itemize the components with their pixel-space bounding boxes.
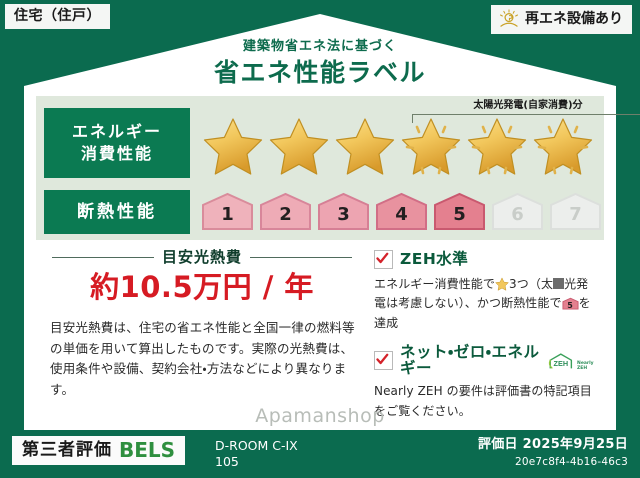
insulation-performance-row: 断熱性能 1 2 bbox=[36, 184, 604, 240]
property-name: D-ROOM C-IX bbox=[215, 438, 298, 454]
check-icon bbox=[374, 351, 393, 370]
label-footer: 第三者評価 BELS D-ROOM C-IX 105 評価日 2025年9月25… bbox=[0, 430, 640, 478]
insulation-performance-label: 断熱性能 bbox=[44, 190, 190, 234]
insulation-level-3: 3 bbox=[316, 192, 371, 230]
renewable-equipment-label: 再エネ設備あり bbox=[525, 12, 623, 26]
criteria-net-zero-energy-title: ネット・ゼロ・エネルギー bbox=[400, 345, 540, 376]
insulation-level-value: 7 bbox=[569, 206, 582, 230]
solar-bracket-line bbox=[412, 114, 640, 123]
zeh-body-part1: エネルギー消費性能で bbox=[374, 277, 495, 291]
insulation-level-value: 2 bbox=[279, 206, 292, 230]
evaluation-info: 評価日 2025年9月25日 20e7c8f4-4b16-46c3 bbox=[478, 437, 628, 469]
insulation-level-value: 1 bbox=[221, 206, 234, 230]
solar-generation-caption: 太陽光発電(自家消費)分 bbox=[412, 101, 640, 111]
zeh-house-icon: ZEH bbox=[547, 350, 575, 372]
insulation-level-2: 2 bbox=[258, 192, 313, 230]
insulation-performance-body: 1 2 3 bbox=[190, 184, 604, 240]
star-3 bbox=[334, 116, 396, 176]
star-4-solar bbox=[400, 116, 462, 176]
insulation-level-value: 6 bbox=[511, 206, 524, 230]
energy-cost-description: 目安光熱費は、住宅の省エネ性能と全国一律の燃料等の単価を用いて算出したものです。… bbox=[42, 318, 362, 401]
energy-cost-value: 約10.5万円 / 年 bbox=[42, 273, 362, 302]
energy-cost-column: 目安光熱費 約10.5万円 / 年 目安光熱費は、住宅の省エネ性能と全国一律の燃… bbox=[36, 250, 362, 433]
performance-band: エネルギー 消費性能 太陽光発電(自家消費)分 bbox=[36, 96, 604, 240]
insulation-level-1: 1 bbox=[200, 192, 255, 230]
inline-insulation-badge: 5 bbox=[562, 297, 579, 310]
heading-subtitle: 建築物省エネ法に基づく bbox=[0, 40, 640, 53]
renewable-equipment-chip: 再エネ設備あり bbox=[491, 5, 632, 34]
insulation-level-value: 4 bbox=[395, 206, 408, 230]
criteria-net-zero-energy: ネット・ゼロ・エネルギー ZEH Nearly ZEH Nearly ZEH の… bbox=[374, 345, 600, 421]
svg-text:ZEH: ZEH bbox=[554, 359, 569, 368]
checkmark-icon bbox=[376, 353, 389, 366]
insulation-level-4: 4 bbox=[374, 192, 429, 230]
star-icon bbox=[334, 116, 396, 176]
redacted-character bbox=[553, 278, 564, 289]
energy-performance-row: エネルギー 消費性能 太陽光発電(自家消費)分 bbox=[36, 102, 604, 184]
zeh-logo-subtext: Nearly ZEH bbox=[577, 362, 600, 371]
inline-star-icon bbox=[495, 277, 509, 291]
bels-en-label: BELS bbox=[119, 440, 175, 460]
criteria-zeh-standard-title: ZEH水準 bbox=[400, 252, 468, 268]
sun-icon bbox=[498, 9, 520, 29]
energy-cost-heading: 目安光熱費 bbox=[42, 250, 362, 265]
sparkle-icon bbox=[400, 116, 462, 176]
energy-star-rating bbox=[202, 116, 594, 176]
star-icon bbox=[268, 116, 330, 176]
energy-cost-heading-text: 目安光熱費 bbox=[162, 250, 242, 265]
checkmark-icon bbox=[376, 252, 389, 265]
property-info: D-ROOM C-IX 105 bbox=[215, 438, 298, 469]
check-icon bbox=[374, 250, 393, 269]
property-unit: 105 bbox=[215, 454, 298, 470]
bels-jp-label: 第三者評価 bbox=[22, 442, 112, 459]
criteria-column: ZEH水準 エネルギー消費性能で3つ（太光発電は考慮しない）、かつ断熱性能で5を… bbox=[362, 250, 604, 433]
bels-certification-chip: 第三者評価 BELS bbox=[12, 436, 185, 465]
criteria-zeh-standard-head: ZEH水準 bbox=[374, 250, 600, 269]
star-6-solar bbox=[532, 116, 594, 176]
sparkle-icon bbox=[532, 116, 594, 176]
star-1 bbox=[202, 116, 264, 176]
label-lower-section: 目安光熱費 約10.5万円 / 年 目安光熱費は、住宅の省エネ性能と全国一律の燃… bbox=[36, 240, 604, 433]
criteria-zeh-standard-body: エネルギー消費性能で3つ（太光発電は考慮しない）、かつ断熱性能で5を達成 bbox=[374, 275, 600, 333]
star-5-solar bbox=[466, 116, 528, 176]
energy-performance-label: エネルギー 消費性能 bbox=[44, 108, 190, 178]
criteria-net-zero-energy-body: Nearly ZEH の要件は評価書の特記項目をご覧ください。 bbox=[374, 382, 600, 421]
zeh-body-star-count: 3つ（太 bbox=[509, 277, 553, 291]
star-icon bbox=[202, 116, 264, 176]
evaluation-date: 評価日 2025年9月25日 bbox=[478, 437, 628, 453]
sparkle-icon bbox=[466, 116, 528, 176]
rule-right bbox=[250, 257, 352, 259]
criteria-net-zero-energy-head: ネット・ゼロ・エネルギー ZEH Nearly ZEH bbox=[374, 345, 600, 376]
label-heading: 建築物省エネ法に基づく 省エネ性能ラベル bbox=[0, 40, 640, 85]
insulation-level-7: 7 bbox=[548, 192, 603, 230]
inline-badge-value: 5 bbox=[562, 302, 579, 310]
insulation-level-5: 5 bbox=[432, 192, 487, 230]
insulation-level-6: 6 bbox=[490, 192, 545, 230]
rule-left bbox=[52, 257, 154, 259]
energy-label-line1: エネルギー bbox=[72, 121, 162, 143]
label-main-panel: エネルギー 消費性能 太陽光発電(自家消費)分 bbox=[36, 96, 604, 433]
insulation-level-value: 5 bbox=[453, 206, 466, 230]
criteria-zeh-standard: ZEH水準 エネルギー消費性能で3つ（太光発電は考慮しない）、かつ断熱性能で5を… bbox=[374, 250, 600, 333]
star-2 bbox=[268, 116, 330, 176]
solar-generation-bracket: 太陽光発電(自家消費)分 bbox=[412, 101, 640, 123]
evaluation-id: 20e7c8f4-4b16-46c3 bbox=[478, 455, 628, 470]
heading-title: 省エネ性能ラベル bbox=[0, 60, 640, 85]
insulation-level-value: 3 bbox=[337, 206, 350, 230]
building-type-chip: 住宅（住戸） bbox=[5, 4, 110, 29]
energy-performance-body: 太陽光発電(自家消費)分 bbox=[190, 102, 604, 184]
insulation-level-scale: 1 2 3 bbox=[200, 192, 603, 230]
zeh-logo: ZEH Nearly ZEH bbox=[547, 350, 600, 372]
energy-label-root: 住宅（住戸） 再エネ設備あり 建築物省エネ法に基づく 省エネ性能ラベル bbox=[0, 0, 640, 478]
energy-label-line2: 消費性能 bbox=[81, 143, 153, 165]
